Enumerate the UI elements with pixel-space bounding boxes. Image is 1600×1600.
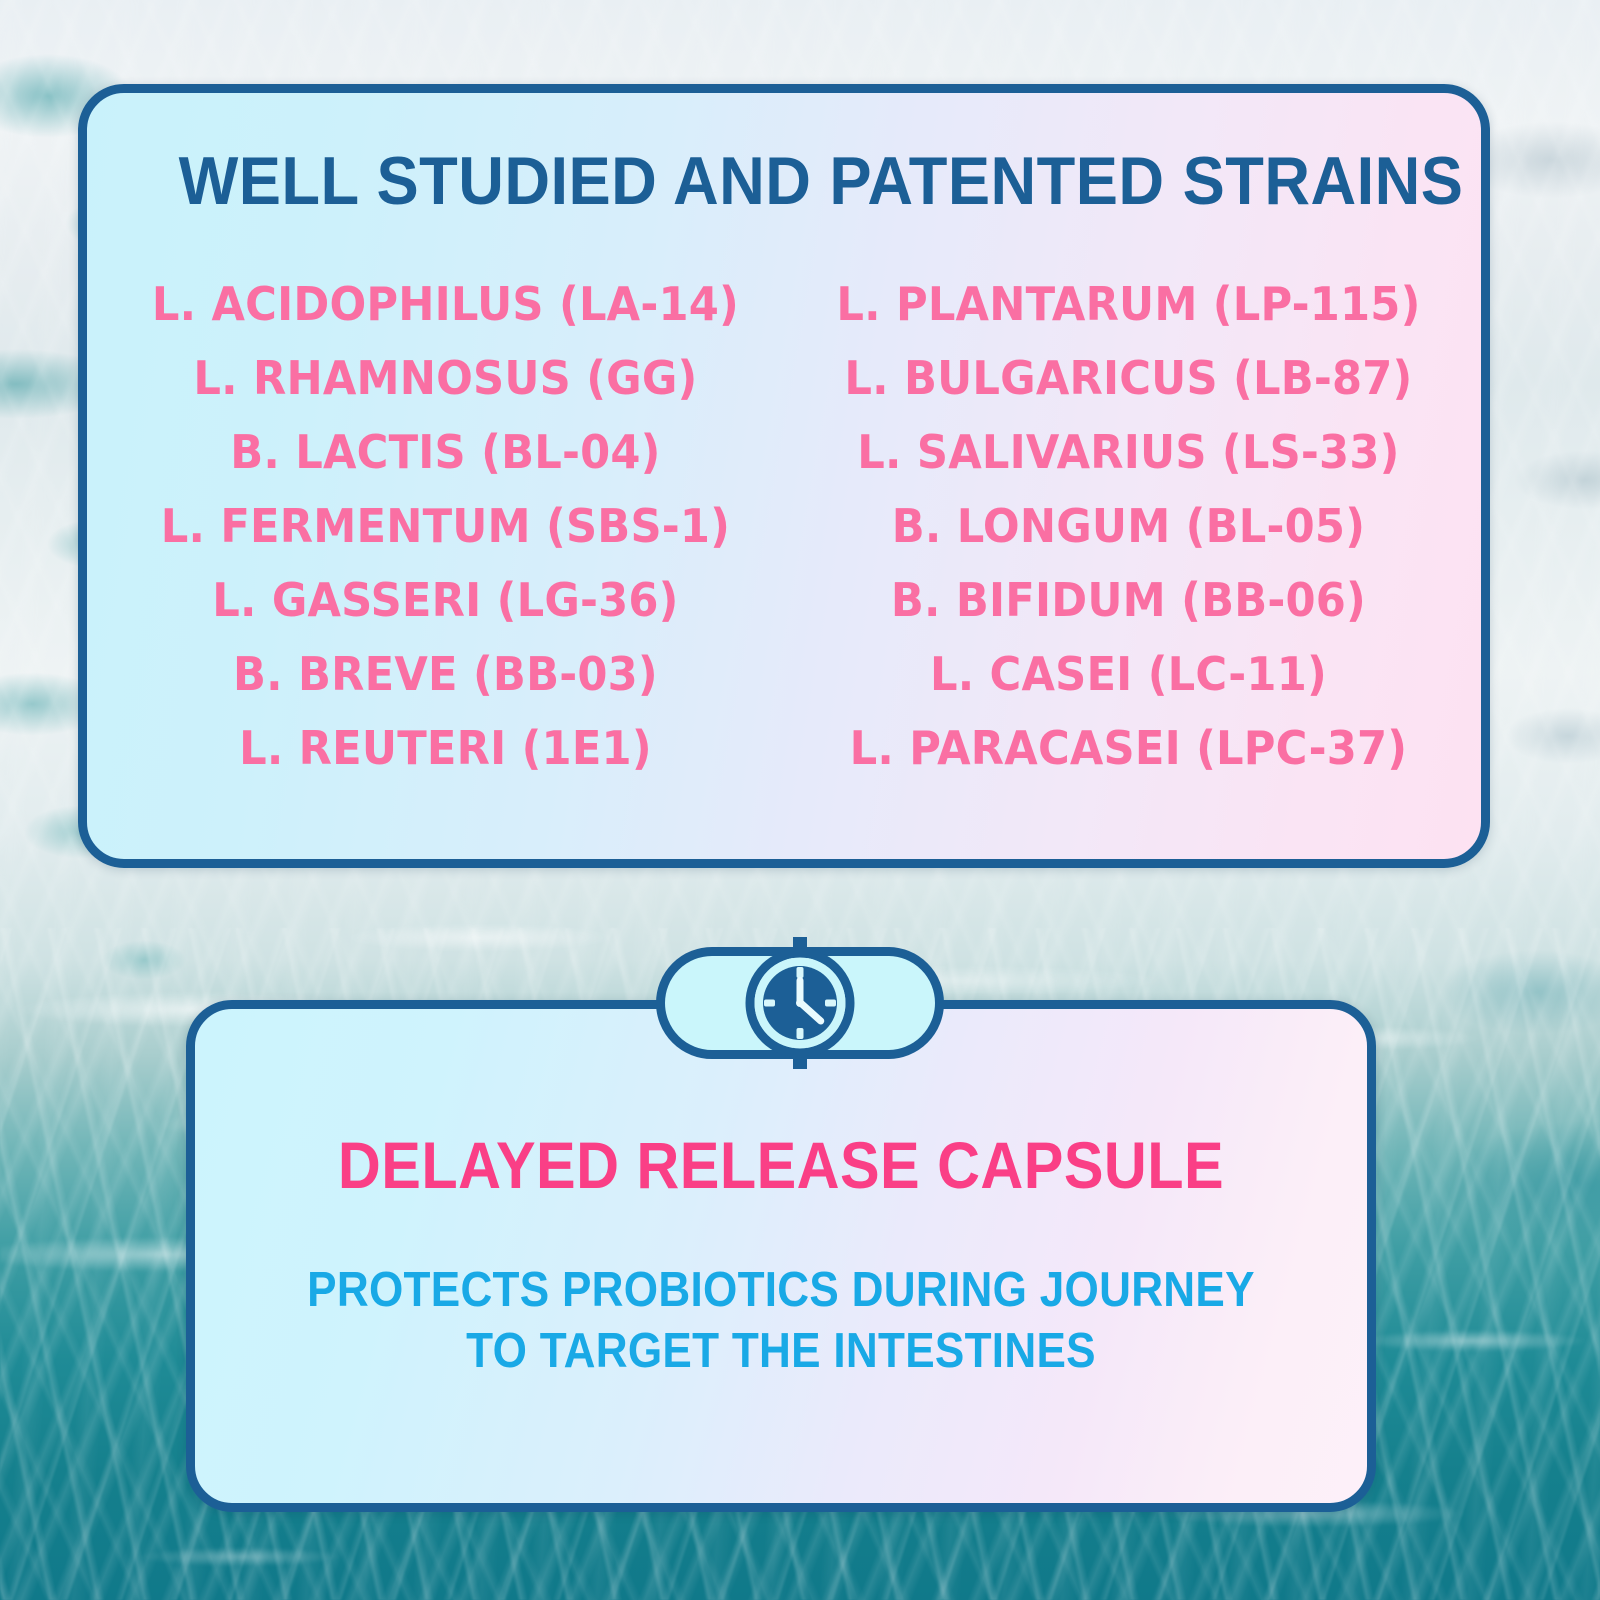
delayed-release-content: DELAYED RELEASE CAPSULE PROTECTS PROBIOT… <box>195 1131 1367 1382</box>
list-item: B. LACTIS (BL-04) <box>152 415 745 489</box>
list-item: L. BULGARICUS (LB-87) <box>826 341 1420 415</box>
list-item: L. PLANTARUM (LP-115) <box>826 267 1420 341</box>
clock-badge <box>656 947 944 1059</box>
page-title: WELL STUDIED AND PATENTED STRAINS <box>179 147 1390 215</box>
list-item: L. REUTERI (1E1) <box>152 711 745 785</box>
list-item: L. FERMENTUM (SBS-1) <box>152 489 745 563</box>
list-item: L. ACIDOPHILUS (LA-14) <box>152 267 745 341</box>
clock-icon <box>742 937 858 1069</box>
strains-card: WELL STUDIED AND PATENTED STRAINS L. ACI… <box>78 84 1490 868</box>
list-item: B. LONGUM (BL-05) <box>826 489 1420 563</box>
capsule-subtitle-line-1: PROTECTS PROBIOTICS DURING JOURNEY <box>254 1260 1309 1321</box>
list-item: B. BREVE (BB-03) <box>152 637 745 711</box>
strain-column-right: L. PLANTARUM (LP-115) L. BULGARICUS (LB-… <box>808 267 1439 785</box>
list-item: L. RHAMNOSUS (GG) <box>152 341 745 415</box>
list-item: L. GASSERI (LG-36) <box>152 563 745 637</box>
capsule-subtitle-line-2: TO TARGET THE INTESTINES <box>254 1321 1309 1382</box>
list-item: B. BIFIDUM (BB-06) <box>826 563 1420 637</box>
list-item: L. PARACASEI (LPC-37) <box>826 711 1420 785</box>
capsule-title: DELAYED RELEASE CAPSULE <box>254 1131 1309 1200</box>
delayed-release-card: DELAYED RELEASE CAPSULE PROTECTS PROBIOT… <box>186 1000 1376 1512</box>
list-item: L. CASEI (LC-11) <box>826 637 1420 711</box>
capsule-subtitle: PROTECTS PROBIOTICS DURING JOURNEY TO TA… <box>254 1260 1309 1382</box>
list-item: L. SALIVARIUS (LS-33) <box>826 415 1420 489</box>
strain-column-left: L. ACIDOPHILUS (LA-14) L. RHAMNOSUS (GG)… <box>133 267 764 785</box>
infographic-canvas: WELL STUDIED AND PATENTED STRAINS L. ACI… <box>0 0 1600 1600</box>
strain-list: L. ACIDOPHILUS (LA-14) L. RHAMNOSUS (GG)… <box>133 267 1435 785</box>
